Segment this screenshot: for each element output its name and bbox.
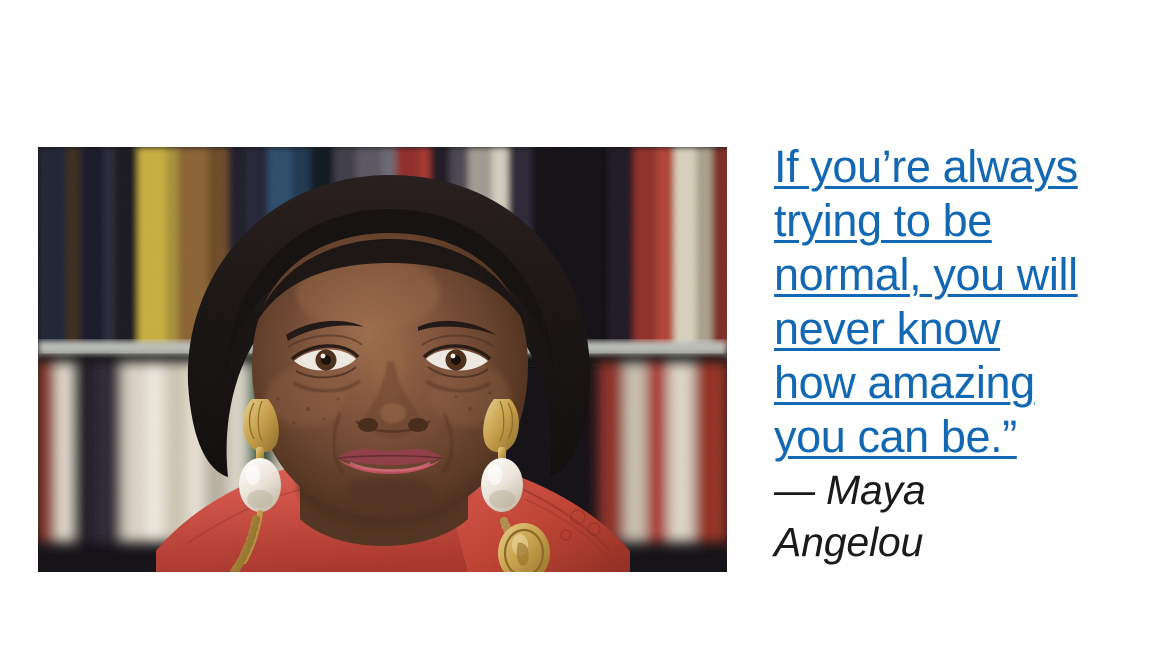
attribution-line-1: — Maya — [774, 464, 1114, 516]
quote-line-1: If you’re always — [774, 140, 1104, 194]
quote-line-5: how amazing — [774, 356, 1104, 410]
quote-hyperlink[interactable]: If you’re always trying to be normal, yo… — [774, 140, 1104, 464]
portrait-photo-graphic — [38, 147, 727, 572]
quote-line-4: never know — [774, 302, 1104, 356]
quote-line-3: normal, you will — [774, 248, 1104, 302]
quote-line-2: trying to be — [774, 194, 1104, 248]
quote-attribution: — Maya Angelou — [774, 464, 1114, 568]
quote-line-6: you can be.” — [774, 410, 1104, 464]
attribution-line-2: Angelou — [774, 516, 1114, 568]
slide-canvas: If you’re always trying to be normal, yo… — [0, 0, 1172, 659]
portrait-photo — [38, 147, 727, 572]
